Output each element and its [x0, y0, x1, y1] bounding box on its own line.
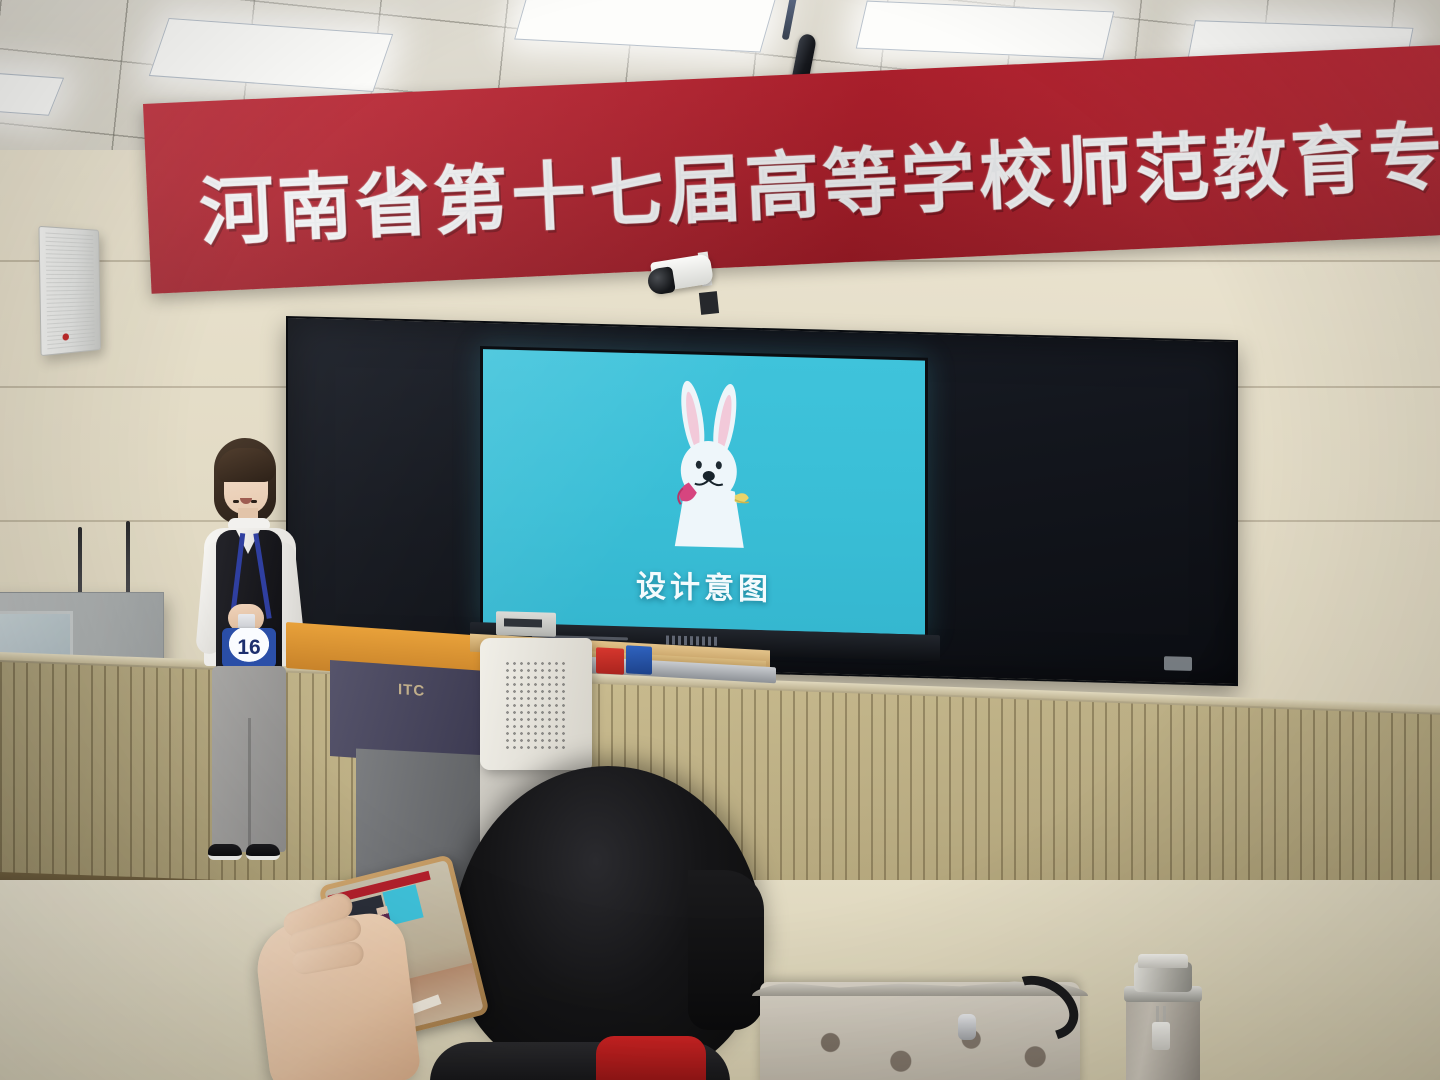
- wall-speaker: [38, 226, 100, 356]
- blackboard-brand-badge: [1164, 656, 1192, 671]
- lectern-speaker-panel: [480, 638, 592, 770]
- rabbit-illustration-icon: [649, 377, 769, 555]
- presentation-screen[interactable]: 设计意图: [480, 346, 928, 638]
- audience-red-garment: [596, 1036, 706, 1080]
- lectern-brand-label: ITC: [398, 681, 425, 700]
- thermos-tag: [1152, 1022, 1170, 1050]
- presenter-shoe: [246, 844, 280, 860]
- presenter-pants: [212, 666, 286, 852]
- presenter-bangs: [217, 448, 275, 482]
- handbag-clasp-icon: [958, 1014, 976, 1040]
- contestant-number-badge: 16: [222, 628, 276, 668]
- camera-junction-box: [699, 291, 719, 315]
- screen-control-panel[interactable]: [496, 611, 556, 637]
- red-box-item[interactable]: [596, 647, 624, 674]
- speaker-perforation: [504, 660, 566, 752]
- slide-surface: 设计意图: [483, 349, 925, 635]
- thermos-cap-top: [1138, 954, 1188, 968]
- slide-caption: 设计意图: [483, 557, 925, 613]
- lecture-hall-photo: 河南省第十七届高等学校师范教育专业毕业生教学技能比赛: [0, 0, 1440, 1080]
- speaker-grille: [45, 232, 94, 349]
- presenter-shoe: [208, 844, 242, 860]
- blue-box-item[interactable]: [626, 645, 652, 674]
- audience-hair-strand: [688, 870, 764, 1030]
